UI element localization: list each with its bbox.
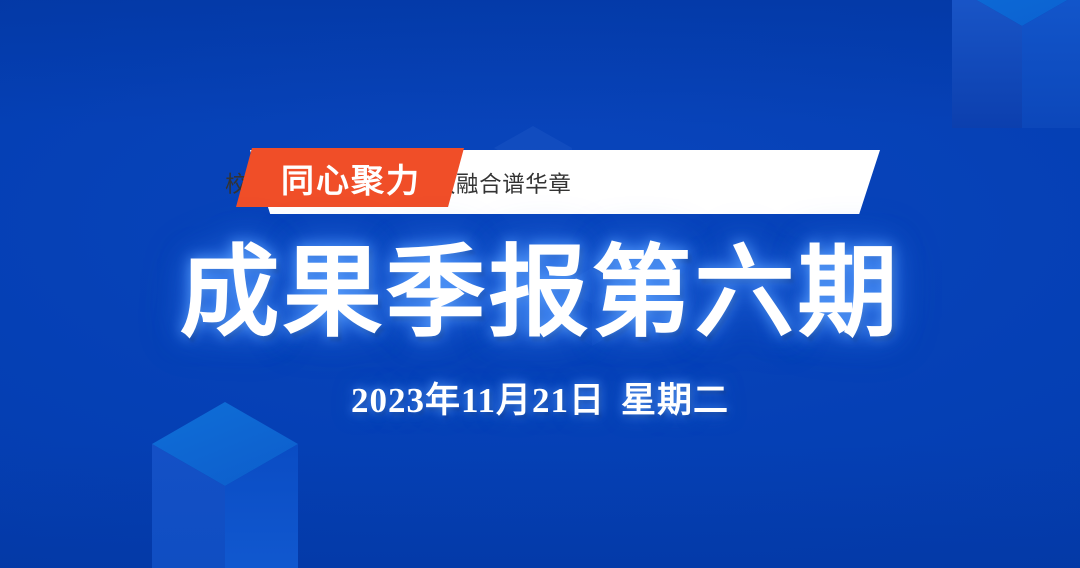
banner-tag-label: 同心聚力 xyxy=(279,154,421,202)
poster-canvas: 校企合作结硕果，产教融合谱华章 同心聚力 成果季报第六期 2023年11月21日… xyxy=(0,0,1080,568)
banner-tag: 同心聚力 xyxy=(236,148,464,207)
title-date: 2023年11月21日 xyxy=(351,381,605,420)
banner-row: 校企合作结硕果，产教融合谱华章 同心聚力 xyxy=(0,148,1080,218)
title-weekday: 星期二 xyxy=(621,381,729,420)
decor-box-top-right-icon xyxy=(952,0,1080,128)
page-title: 成果季报第六期 xyxy=(0,240,1080,348)
title-date-line: 2023年11月21日星期二 xyxy=(0,372,1080,423)
